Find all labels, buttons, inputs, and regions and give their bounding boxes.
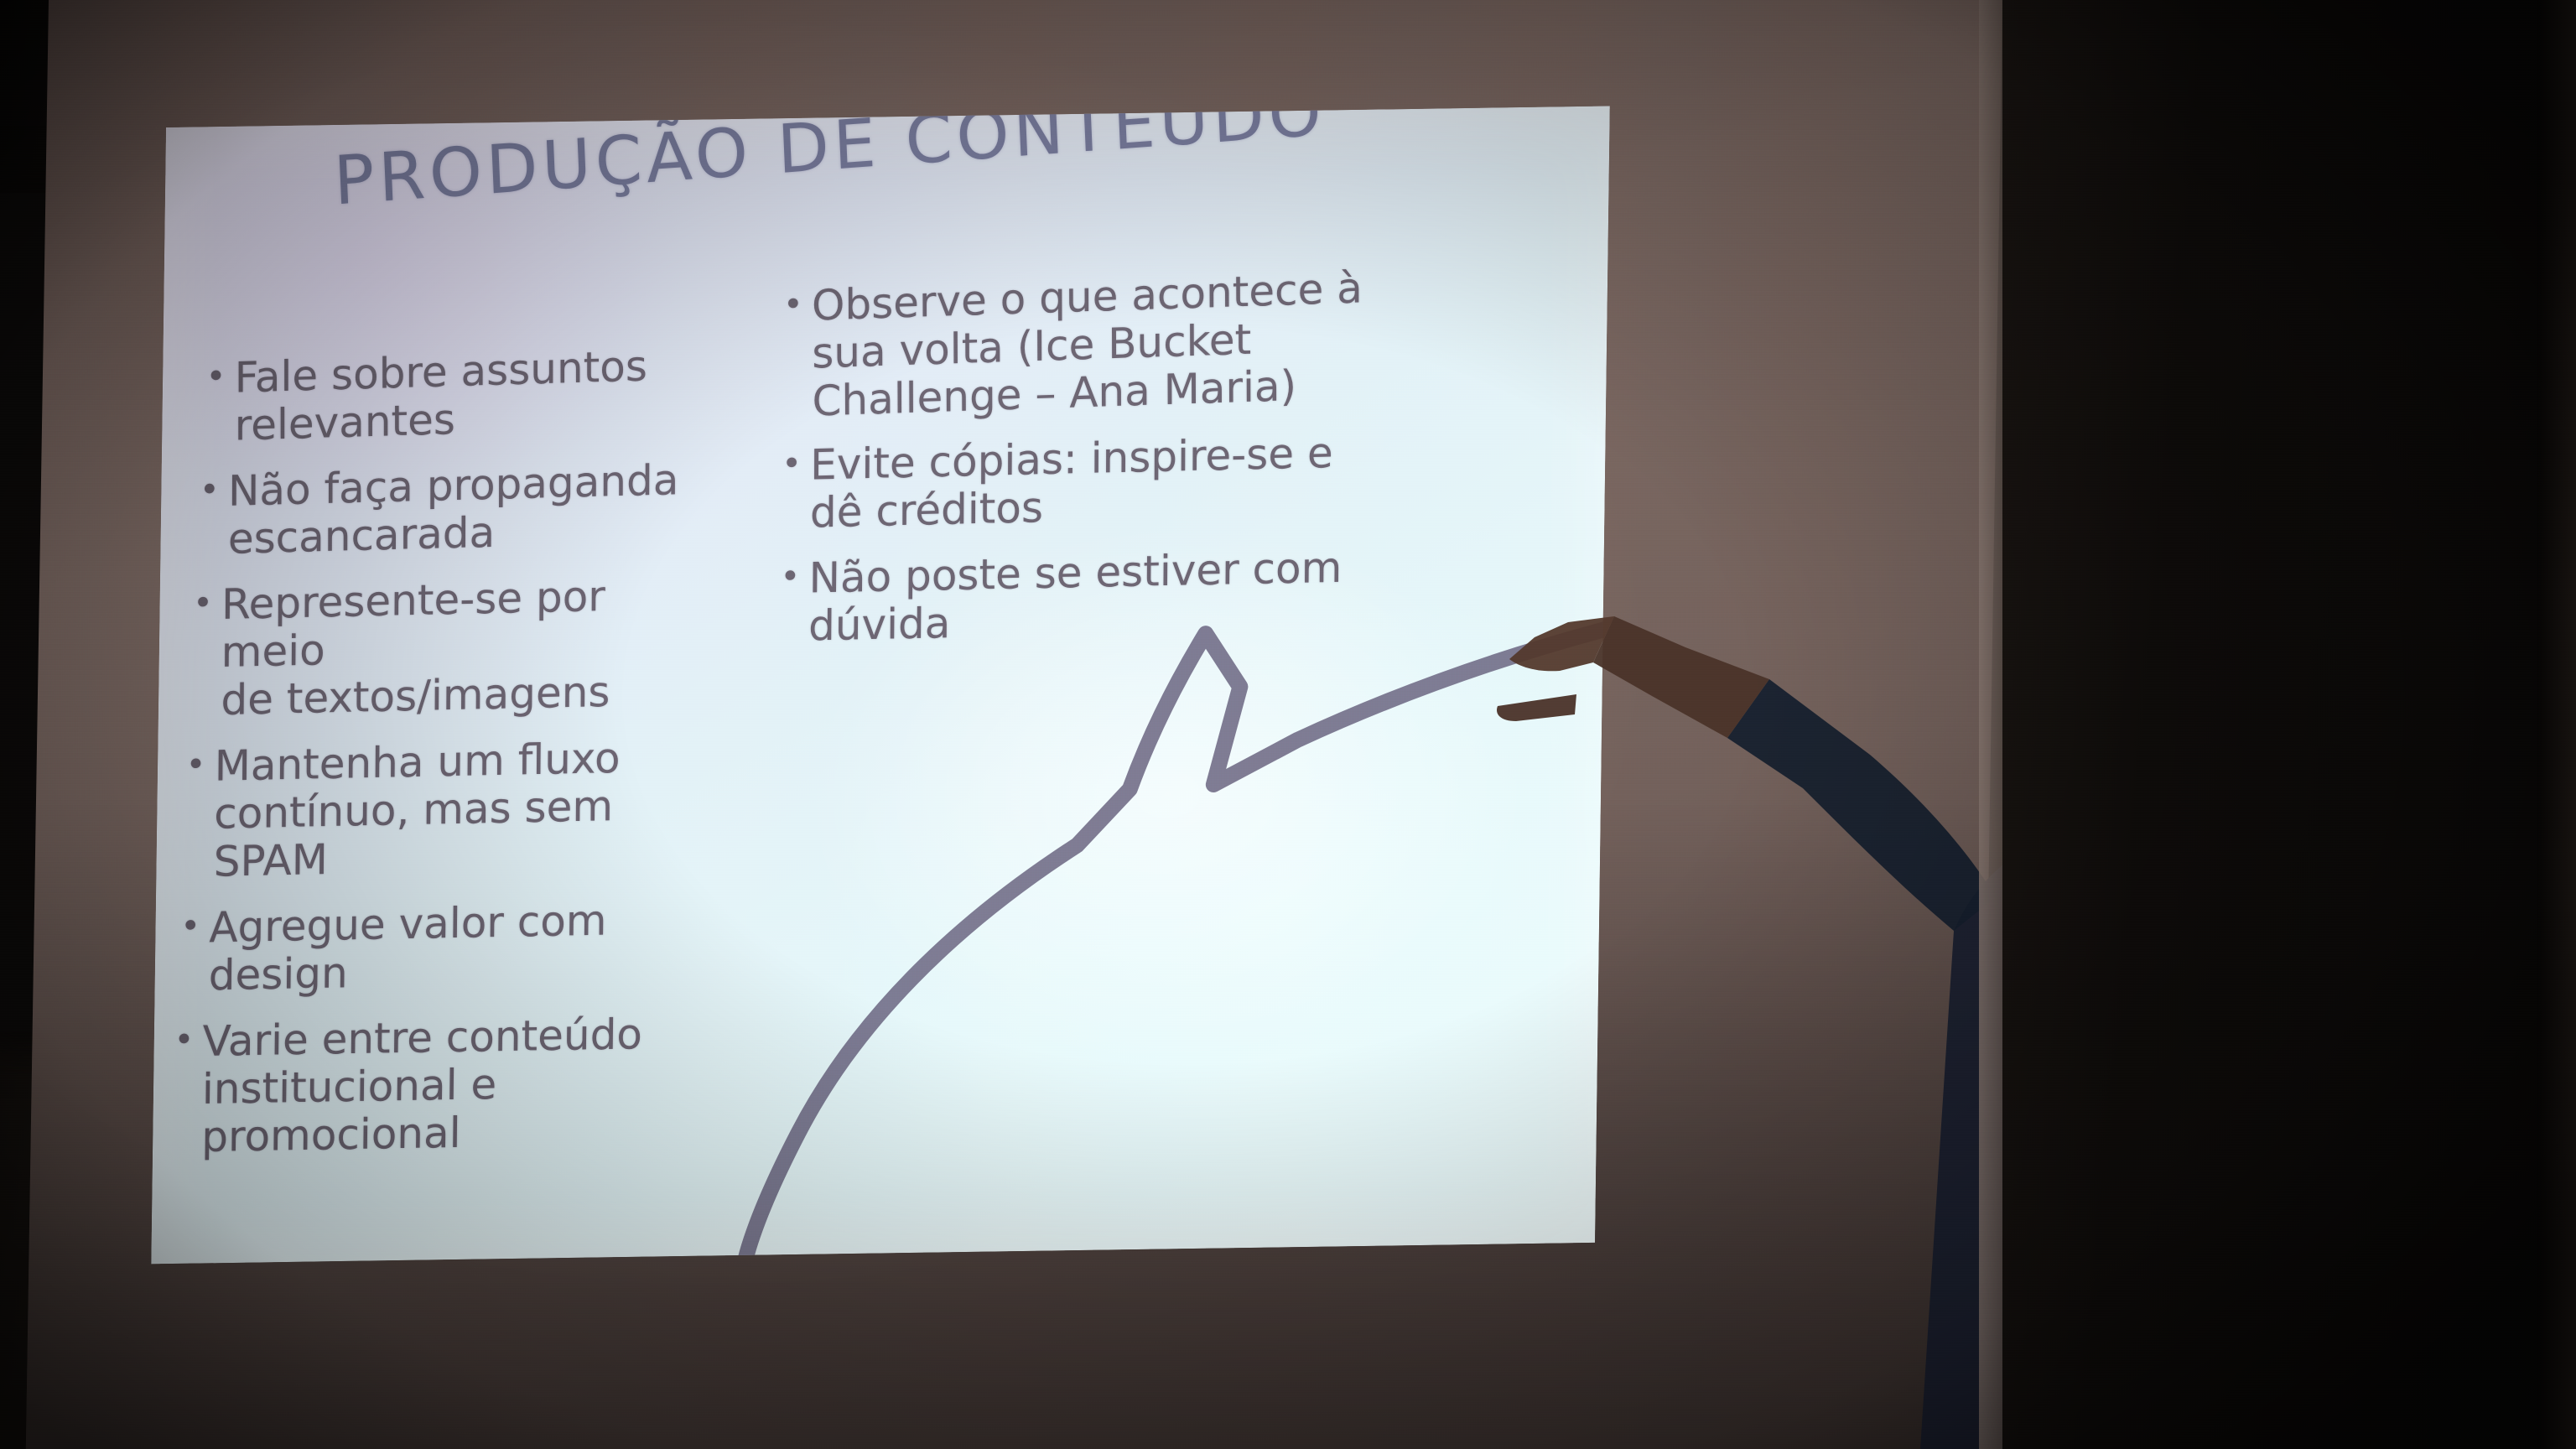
bullet-dot-icon: • (174, 1018, 203, 1063)
list-item-label: Evite cópias: inspire-se e dê créditos (810, 428, 1419, 538)
list-item-label: Não poste se estiver com dúvida (808, 543, 1418, 651)
list-item: • Represente-se por meio de textos/image… (192, 570, 721, 725)
list-item: • Observe o que acontece à sua volta (Ic… (783, 262, 1421, 427)
list-item: • Fale sobre assuntos relevantes (206, 340, 724, 451)
list-item: • Agregue valor com design (180, 895, 718, 1000)
list-item-label: Observe o que acontece à sua volta (Ice … (812, 262, 1421, 425)
list-item: • Varie entre conteúdo institucional e p… (173, 1010, 716, 1162)
projected-slide: PRODUÇÃO DE CONTEÚDO • Fale sobre assunt… (151, 106, 1610, 1264)
bullet-dot-icon: • (783, 283, 812, 329)
list-item-label: Mantenha um fluxo contínuo, mas sem SPAM (214, 733, 719, 886)
list-item: • Evite cópias: inspire-se e dê créditos (782, 428, 1419, 538)
room-dark-right (2002, 0, 2576, 1449)
bullet-dot-icon: • (193, 581, 221, 626)
list-item: • Não faça propaganda escancarada (200, 455, 723, 564)
bullet-dot-icon: • (206, 355, 235, 401)
slide-bullets-right-column: • Observe o que acontece à sua volta (Ic… (779, 268, 1421, 667)
list-item-label: Varie entre conteúdo institucional e pro… (201, 1010, 716, 1161)
bullet-dot-icon: • (200, 468, 228, 513)
list-item-label: Represente-se por meio de textos/imagens (221, 570, 721, 724)
list-item: • Não poste se estiver com dúvida (780, 543, 1418, 651)
bullet-dot-icon: • (186, 743, 215, 788)
list-item: • Mantenha um fluxo contínuo, mas sem SP… (185, 733, 719, 887)
list-item-label: Fale sobre assuntos relevantes (235, 340, 724, 450)
bullet-dot-icon: • (180, 904, 210, 949)
slide-bullets-left-column: • Fale sobre assuntos relevantes • Não f… (178, 344, 725, 1180)
room-far-right-edge (2537, 0, 2576, 1449)
photo-frame: PRODUÇÃO DE CONTEÚDO • Fale sobre assunt… (0, 0, 2576, 1449)
bullet-dot-icon: • (782, 442, 810, 487)
list-item-label: Agregue valor com design (209, 895, 718, 1000)
list-item-label: Não faça propaganda escancarada (228, 455, 723, 563)
bullet-dot-icon: • (780, 554, 808, 600)
